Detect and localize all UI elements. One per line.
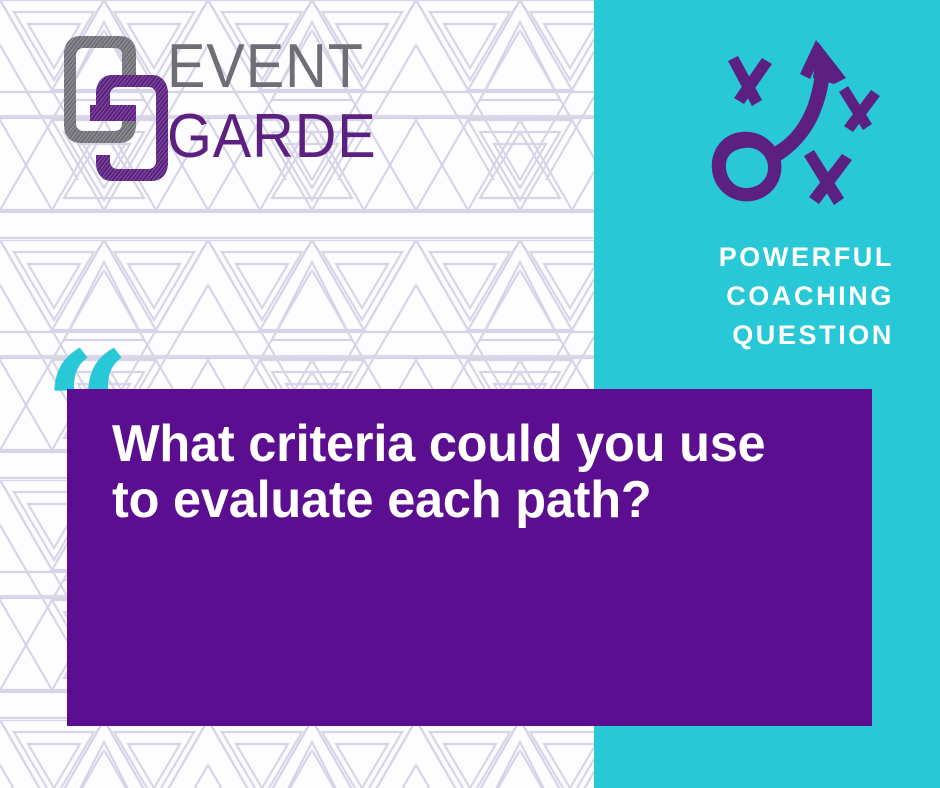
caption-line-3: QUESTION [594, 316, 894, 355]
quote-line-2: to evaluate each path? [112, 472, 820, 528]
quote-text: What criteria could you use to evaluate … [112, 416, 820, 528]
caption-line-2: COACHING [594, 277, 894, 316]
panel-caption: POWERFUL COACHING QUESTION [594, 238, 894, 355]
logo-text-garde: GARDE [167, 102, 334, 172]
event-garde-mark-icon [62, 33, 170, 185]
caption-line-1: POWERFUL [594, 238, 894, 277]
logo-wordmark: EVENT GARDE [167, 32, 347, 172]
strategy-arrow-icon [700, 38, 885, 218]
social-graphic-canvas: POWERFUL COACHING QUESTION [0, 0, 940, 788]
logo-text-event: EVENT [167, 32, 334, 102]
brand-logo: EVENT GARDE [62, 33, 342, 188]
quote-line-1: What criteria could you use [112, 416, 820, 472]
quote-box: What criteria could you use to evaluate … [67, 389, 872, 726]
